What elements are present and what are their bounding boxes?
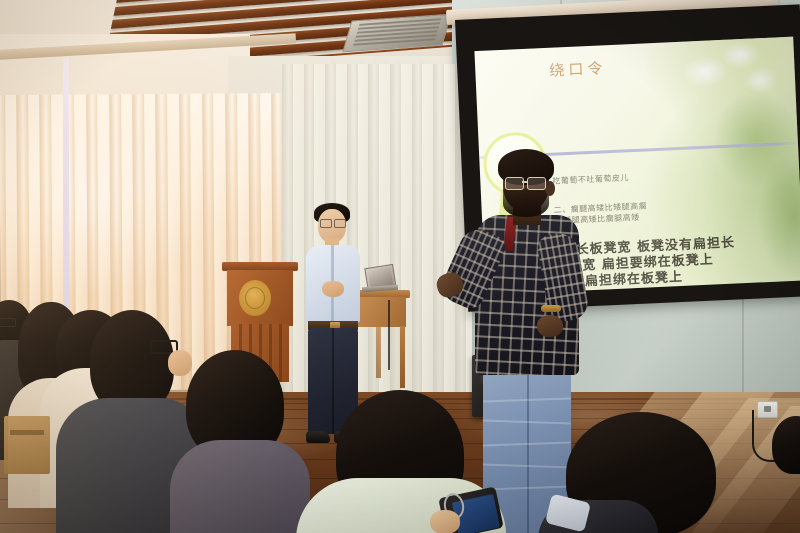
chair-back [4,416,50,474]
beard [503,189,549,217]
plaid-line [536,249,591,261]
drape-pleat [422,64,433,419]
audience-member-right-edge [772,416,800,474]
audience-far-left-glasses-icon [0,318,16,327]
chair-slat [10,430,44,435]
audience-grey-collar-shirt [170,440,310,533]
drape-pleat [444,64,455,419]
plaid-line [475,335,579,343]
table-leg-3 [376,326,381,378]
jeans-seam [527,369,529,533]
presenter-right-hand [537,315,563,337]
presenter-eyeglasses-icon [505,177,549,188]
slide-title: 绕口令 [549,57,607,81]
laptop-cable [388,300,404,370]
university-crest-icon [239,280,271,316]
audience-center-hand [430,510,460,533]
plaid-line [475,323,579,331]
lectern-front-panel [227,270,293,326]
drape-pleat [433,64,444,419]
wristwatch-icon [541,305,561,312]
eyeglasses-icon [320,219,345,226]
drape-pleat [412,64,423,419]
clasped-hands [322,281,344,297]
hair [772,416,800,474]
shoe-left [306,431,330,443]
classroom-photo-scene: 绕口令 Chinese Tongue 中国语言文化 绕口令 吃葡萄不吐葡萄皮儿 … [0,0,800,533]
trouser-seam [332,328,334,434]
